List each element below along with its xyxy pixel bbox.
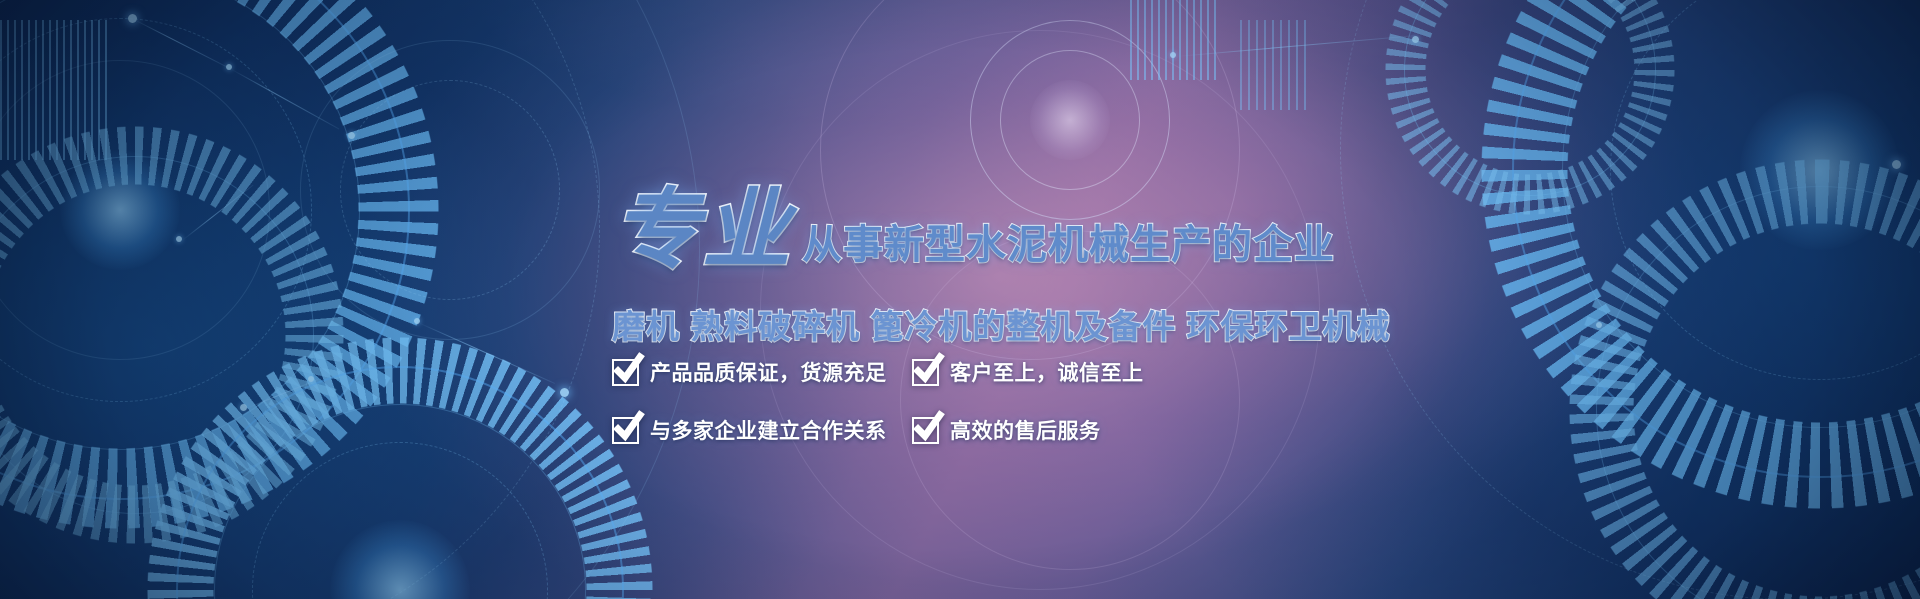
list-item-label: 产品品质保证，货源充足 <box>650 357 887 387</box>
headline-emphasis: 专业 <box>612 190 792 271</box>
banner-content: 专业 从事新型水泥机械生产的企业 磨机 熟料破碎机 篦冷机的整机及备件 环保环卫… <box>0 0 1920 599</box>
list-item: 客户至上，诚信至上 <box>912 357 1212 387</box>
checkbox-checked-icon <box>912 417 939 444</box>
list-item: 高效的售后服务 <box>912 415 1212 445</box>
checkbox-checked-icon <box>612 417 639 444</box>
feature-bullet-list: 产品品质保证，货源充足 客户至上，诚信至上 与多家企业建立合作关系 高效的售后服… <box>612 357 1212 445</box>
product-subline: 磨机 熟料破碎机 篦冷机的整机及备件 环保环卫机械 <box>612 300 1391 348</box>
list-item-label: 高效的售后服务 <box>950 415 1101 445</box>
hero-banner: 专业 从事新型水泥机械生产的企业 磨机 熟料破碎机 篦冷机的整机及备件 环保环卫… <box>0 0 1920 599</box>
list-item: 与多家企业建立合作关系 <box>612 415 912 445</box>
headline-rest: 从事新型水泥机械生产的企业 <box>802 225 1335 265</box>
list-item: 产品品质保证，货源充足 <box>612 357 912 387</box>
list-item-label: 客户至上，诚信至上 <box>950 357 1144 387</box>
checkbox-checked-icon <box>612 359 639 386</box>
list-item-label: 与多家企业建立合作关系 <box>650 415 887 445</box>
headline: 专业 从事新型水泥机械生产的企业 <box>612 190 1335 271</box>
checkbox-checked-icon <box>912 359 939 386</box>
